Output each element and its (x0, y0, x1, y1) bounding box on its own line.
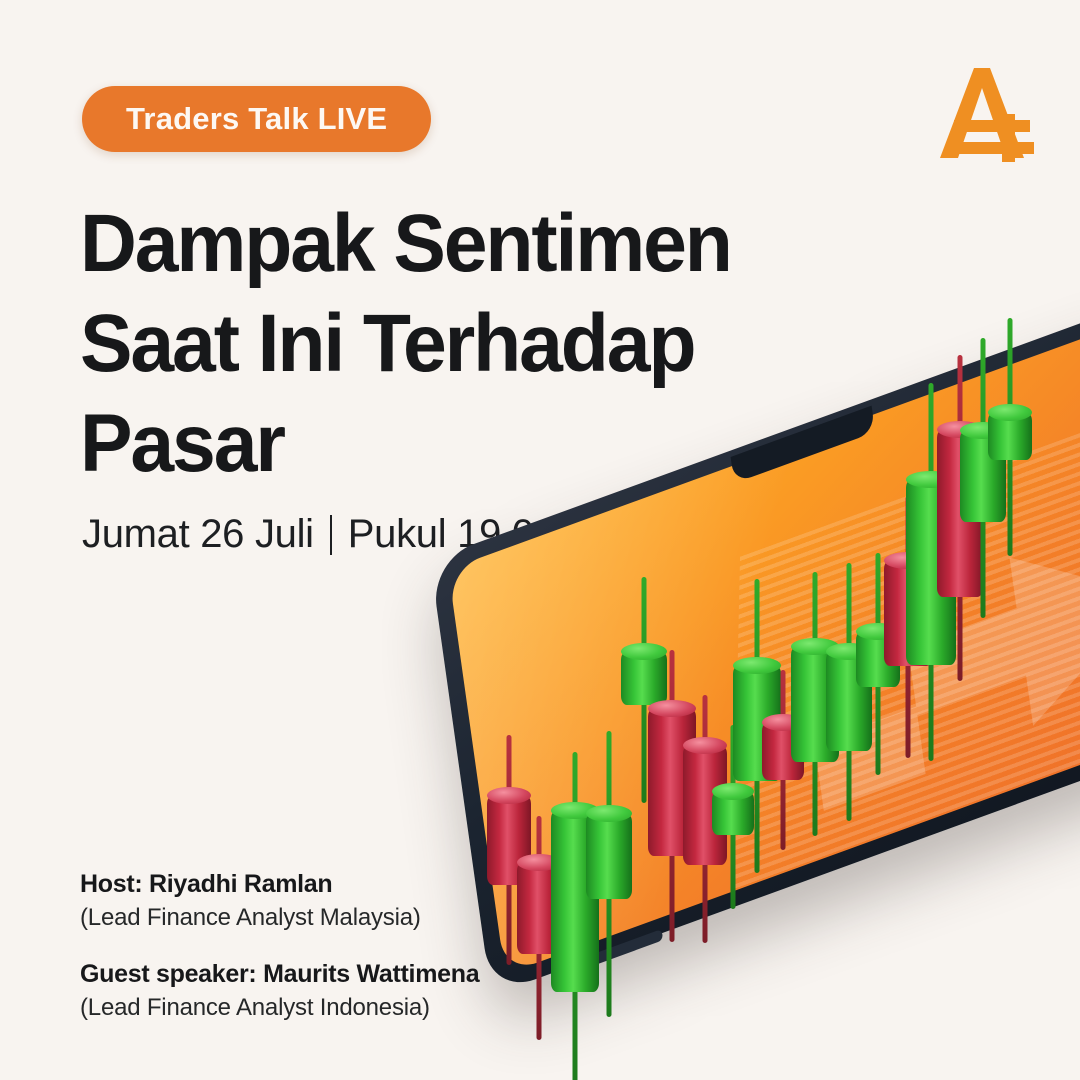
candle-body (856, 631, 900, 687)
candle-wick (906, 496, 911, 758)
schedule-line: Jumat 26 Juli Pukul 19.00 WIB (82, 512, 641, 557)
candle-13-up (856, 631, 900, 687)
candle-12-up (826, 651, 872, 751)
candle-5-up (621, 651, 667, 705)
candle-7-down (683, 745, 727, 865)
candle-6-down (648, 708, 696, 856)
candle-cap (826, 643, 872, 660)
candle-wick (981, 338, 986, 618)
host-name: Host: Riyadhi Ramlan (80, 870, 479, 899)
candle-body (517, 862, 561, 954)
candle-cap (586, 805, 632, 822)
candle-16-down (937, 429, 983, 597)
candle-wick (1008, 318, 1013, 556)
candle-body (960, 430, 1006, 522)
candle-cap (621, 643, 667, 660)
candle-body (791, 646, 839, 762)
headline-line-3: Pasar (80, 394, 810, 494)
candle-9-up (733, 665, 781, 781)
candle-wick (813, 572, 818, 836)
candle-body (551, 810, 599, 992)
brand-logo (928, 58, 1038, 168)
candle-cap (856, 623, 900, 640)
candle-wick (958, 355, 963, 681)
candle-cap (960, 422, 1006, 439)
live-badge[interactable]: Traders Talk LIVE (82, 86, 431, 152)
candle-2-down (517, 862, 561, 954)
candle-body (487, 795, 531, 885)
candle-wick (929, 383, 934, 761)
candle-18-up (988, 412, 1032, 460)
candle-body (586, 813, 632, 899)
candle-wick (607, 731, 612, 1017)
candle-cap (733, 657, 781, 674)
candle-body (648, 708, 696, 856)
candle-body (733, 665, 781, 781)
candle-10-down (762, 722, 804, 780)
candle-14-down (884, 560, 932, 666)
arrow-watermark-icon (796, 489, 1080, 823)
candle-cap (517, 854, 561, 871)
candle-wick (781, 670, 786, 850)
candle-body (683, 745, 727, 865)
candle-wick (847, 563, 852, 821)
candle-8-up (712, 791, 754, 835)
candle-4-up (586, 813, 632, 899)
candle-body (988, 412, 1032, 460)
candle-wick (876, 553, 881, 775)
guest-role: (Lead Finance Analyst Indonesia) (80, 994, 479, 1022)
candle-cap (551, 802, 599, 819)
candle-cap (683, 737, 727, 754)
schedule-time: Pukul 19.00 WIB (348, 512, 641, 557)
candle-cap (884, 552, 932, 569)
candle-cap (487, 787, 531, 804)
candle-cap (988, 404, 1032, 421)
candle-wick (670, 650, 675, 942)
candle-17-up (960, 430, 1006, 522)
speaker-list: Host: Riyadhi Ramlan (Lead Finance Analy… (80, 870, 479, 1022)
candle-wick (755, 579, 760, 873)
candle-body (826, 651, 872, 751)
guest-name: Guest speaker: Maurits Wattimena (80, 960, 479, 989)
schedule-date: Jumat 26 Juli (82, 512, 314, 557)
candle-wick (703, 695, 708, 943)
candle-body (937, 429, 983, 597)
candle-body (884, 560, 932, 666)
candle-wick (573, 752, 578, 1080)
candle-wick (537, 816, 542, 1040)
schedule-divider (330, 515, 332, 555)
candle-wick (507, 735, 512, 965)
candle-3-up (551, 810, 599, 992)
candle-1-down (487, 795, 531, 885)
candle-cap (791, 638, 839, 655)
candle-11-up (791, 646, 839, 762)
phone-side-button (581, 929, 663, 970)
candle-cap (906, 471, 956, 488)
candle-cap (648, 700, 696, 717)
candle-cap (712, 783, 754, 800)
promo-poster: Traders Talk LIVE Dampak Sentimen Saat I… (0, 0, 1080, 1080)
list-item: Guest speaker: Maurits Wattimena (Lead F… (80, 960, 479, 1022)
candle-cap (762, 714, 804, 731)
candle-body (621, 651, 667, 705)
candle-15-up (906, 479, 956, 665)
host-role: (Lead Finance Analyst Malaysia) (80, 904, 479, 932)
headline-line-1: Dampak Sentimen (80, 194, 810, 294)
candle-wick (731, 725, 736, 909)
candle-body (906, 479, 956, 665)
candle-body (712, 791, 754, 835)
candle-body (762, 722, 804, 780)
candle-wick (642, 577, 647, 803)
list-item: Host: Riyadhi Ramlan (Lead Finance Analy… (80, 870, 479, 932)
page-title: Dampak Sentimen Saat Ini Terhadap Pasar (80, 194, 840, 494)
candle-cap (937, 421, 983, 438)
headline-line-2: Saat Ini Terhadap (80, 294, 810, 394)
live-badge-label: Traders Talk LIVE (126, 101, 387, 137)
